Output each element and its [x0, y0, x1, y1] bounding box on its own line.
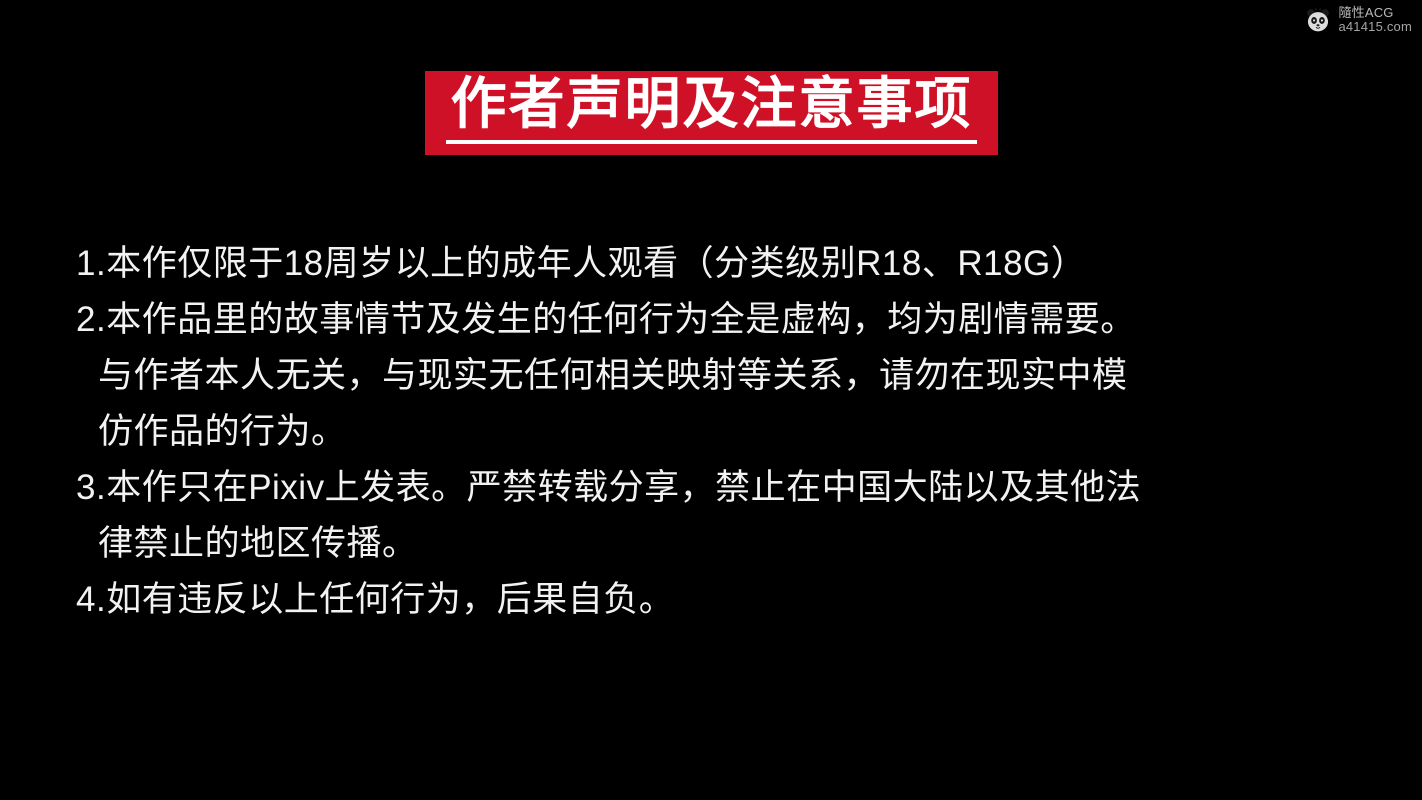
- notice-line-6: 律禁止的地区传播。: [76, 516, 1366, 572]
- notice-line-4: 仿作品的行为。: [76, 404, 1366, 460]
- notice-line-2: 2.本作品里的故事情节及发生的任何行为全是虚构，均为剧情需要。: [76, 292, 1366, 348]
- notice-line-7: 4.如有违反以上任何行为，后果自负。: [76, 572, 1366, 628]
- watermark-site-name: 隨性ACG: [1338, 6, 1412, 20]
- title-banner: 作者声明及注意事项: [425, 71, 998, 155]
- watermark-site-url: a41415.com: [1338, 20, 1412, 34]
- title-underline: [446, 140, 977, 144]
- notice-list: 1.本作仅限于18周岁以上的成年人观看（分类级别R18、R18G） 2.本作品里…: [76, 236, 1366, 628]
- watermark-text-block: 隨性ACG a41415.com: [1338, 6, 1412, 33]
- notice-line-3: 与作者本人无关，与现实无任何相关映射等关系，请勿在现实中模: [76, 348, 1366, 404]
- panda-icon: [1304, 6, 1332, 34]
- notice-line-5: 3.本作只在Pixiv上发表。严禁转载分享，禁止在中国大陆以及其他法: [76, 460, 1366, 516]
- page-title: 作者声明及注意事项: [451, 74, 973, 136]
- notice-line-1: 1.本作仅限于18周岁以上的成年人观看（分类级别R18、R18G）: [76, 236, 1366, 292]
- site-watermark: 隨性ACG a41415.com: [1304, 6, 1412, 34]
